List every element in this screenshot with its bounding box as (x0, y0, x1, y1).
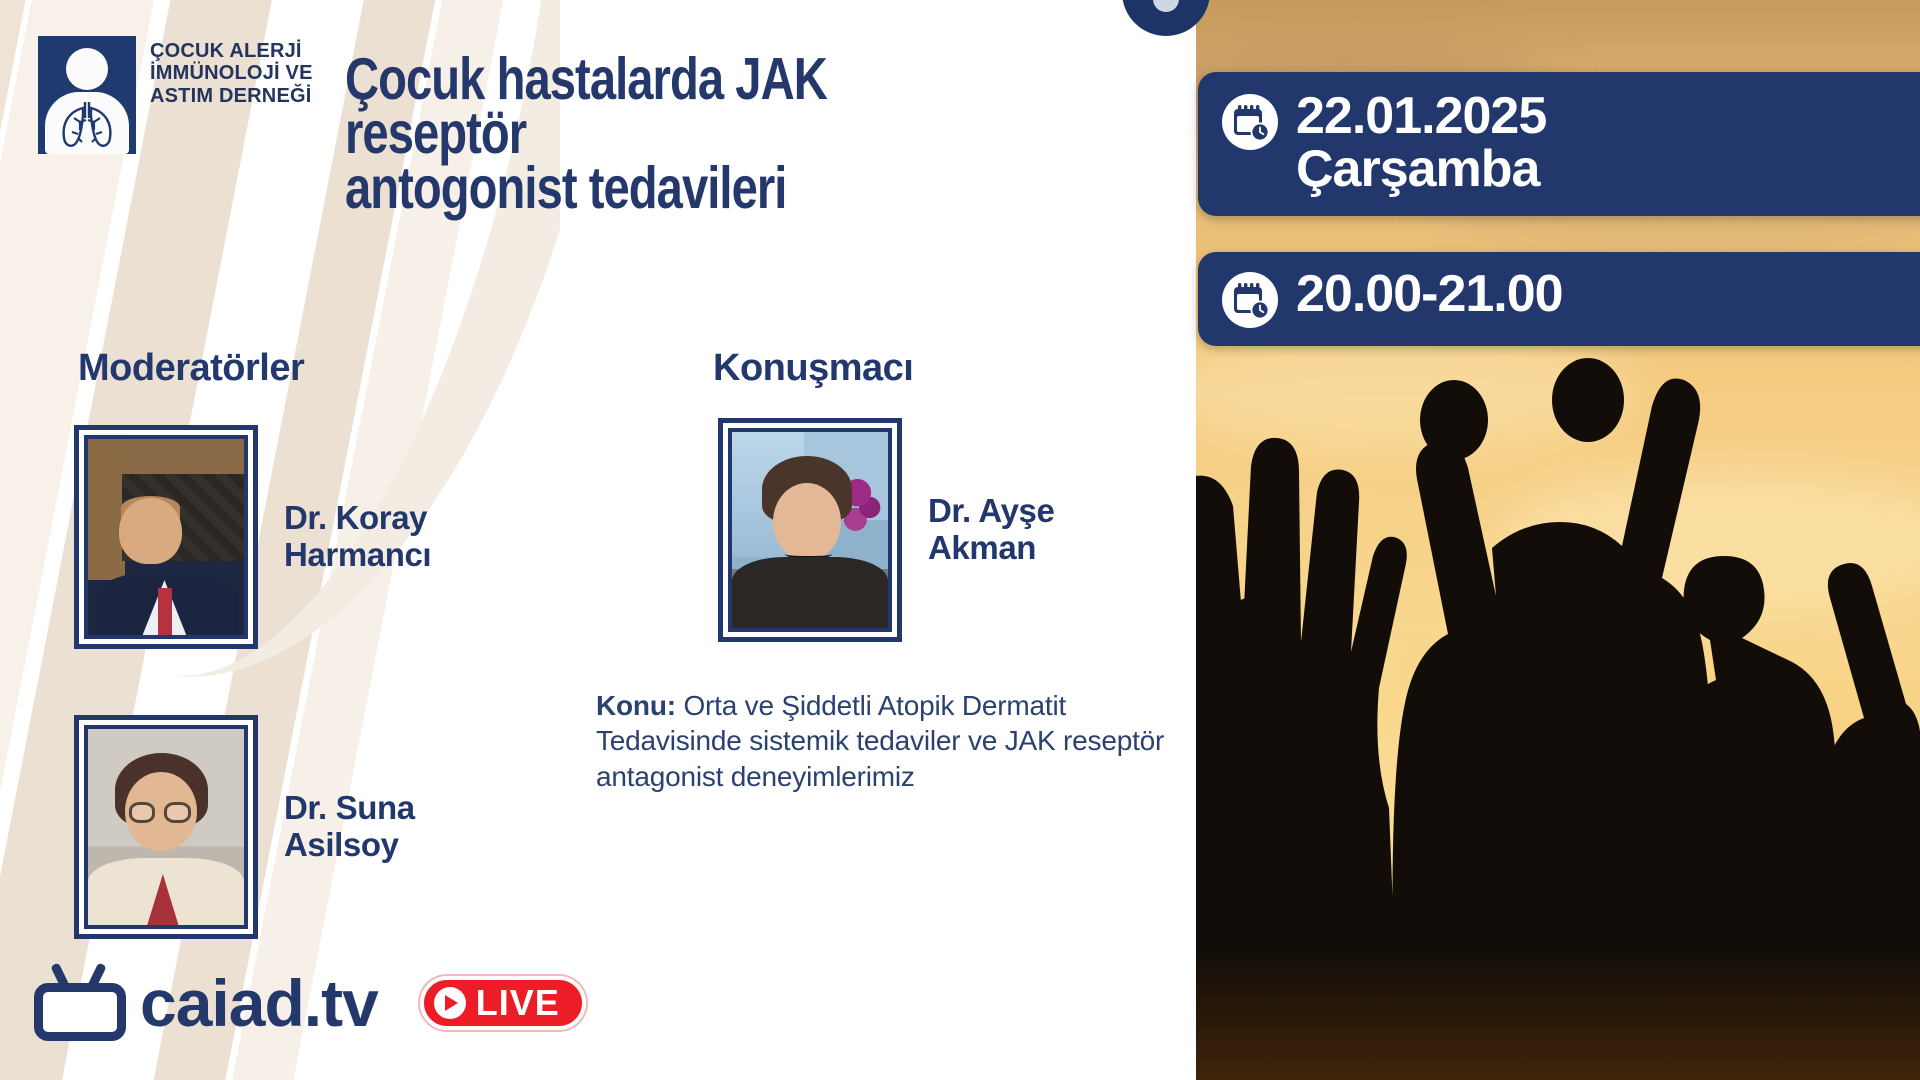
topic-text: Orta ve Şiddetli Atopik Dermatit Tedavis… (596, 690, 1164, 792)
play-icon[interactable] (434, 987, 466, 1019)
television-icon (34, 965, 126, 1041)
moderator-name-1: Dr. Koray Harmancı (284, 500, 431, 574)
speaker-heading: Konuşmacı (713, 347, 913, 390)
event-weekday: Çarşamba (1296, 143, 1546, 196)
content-panel: ÇOCUK ALERJİ İMMÜNOLOJİ VE ASTIM DERNEĞİ… (0, 0, 1196, 1080)
live-badge[interactable]: LIVE (420, 976, 586, 1030)
live-label: LIVE (476, 982, 560, 1024)
portrait-koray-harmanci (88, 439, 244, 635)
moderator-name-2: Dr. Suna Asilsoy (284, 790, 415, 864)
page-title: Çocuk hastalarda JAK reseptör antogonist… (345, 52, 1009, 215)
speaker-name: Dr. Ayşe Akman (928, 493, 1054, 567)
event-date: 22.01.2025 (1296, 90, 1546, 143)
calendar-clock-icon (1222, 94, 1278, 150)
photo-frame (74, 425, 258, 649)
lungs-glyph (56, 98, 118, 150)
org-name-line-1: ÇOCUK ALERJİ (150, 40, 313, 62)
title-line-1: Çocuk hastalarda JAK reseptör (345, 46, 827, 166)
moderators-heading: Moderatörler (78, 347, 304, 390)
brand-name[interactable]: caiad.tv (140, 970, 378, 1036)
date-badge: 22.01.2025 Çarşamba (1198, 72, 1920, 216)
moderator-card-1: Dr. Koray Harmancı (74, 425, 431, 649)
photo-frame (74, 715, 258, 939)
organization-logo: ÇOCUK ALERJİ İMMÜNOLOJİ VE ASTIM DERNEĞİ (38, 36, 313, 154)
org-name-line-2: İMMÜNOLOJİ VE (150, 62, 313, 84)
title-line-2: antogonist tedavileri (345, 161, 1009, 215)
calendar-clock-icon (1222, 272, 1278, 328)
brand-footer[interactable]: caiad.tv LIVE (34, 965, 586, 1041)
poster-canvas: ÇOCUK ALERJİ İMMÜNOLOJİ VE ASTIM DERNEĞİ… (0, 0, 1920, 1080)
time-badge: 20.00-21.00 (1198, 252, 1920, 346)
portrait-ayse-akman (732, 432, 888, 628)
org-name-line-3: ASTIM DERNEĞİ (150, 85, 313, 107)
ground-haze (1196, 950, 1920, 1080)
speaker-card: Dr. Ayşe Akman (718, 418, 1054, 642)
topic-label: Konu: (596, 690, 676, 721)
event-time: 20.00-21.00 (1296, 268, 1563, 321)
photo-frame (718, 418, 902, 642)
topic-paragraph: Konu: Orta ve Şiddetli Atopik Dermatit T… (596, 688, 1196, 794)
portrait-suna-asilsoy (88, 729, 244, 925)
moderator-card-2: Dr. Suna Asilsoy (74, 715, 415, 939)
organization-name: ÇOCUK ALERJİ İMMÜNOLOJİ VE ASTIM DERNEĞİ (150, 36, 313, 107)
person-lungs-icon (38, 36, 136, 154)
